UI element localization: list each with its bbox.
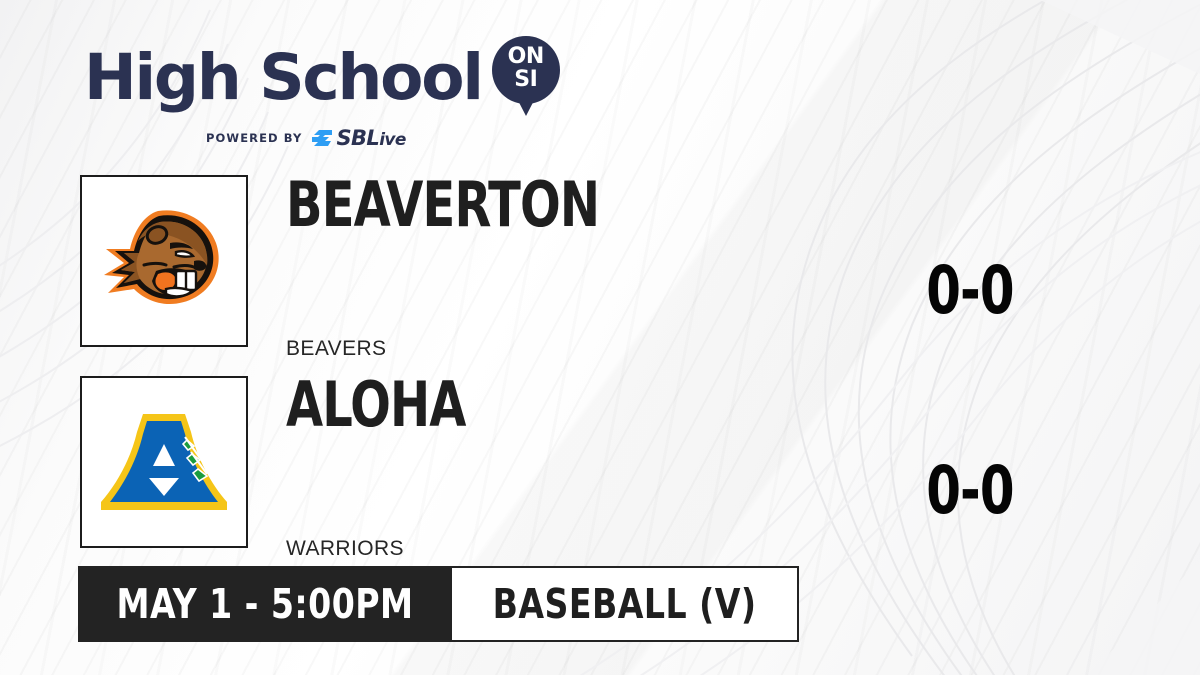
game-sport-segment: BASEBALL (V) bbox=[452, 566, 799, 642]
brand-header: High School ON SI POWERED BY SBLi bbox=[84, 36, 514, 150]
sblive-logo: SBLive bbox=[311, 126, 405, 150]
game-datetime-label: MAY 1 - 5:00PM bbox=[117, 584, 414, 625]
sblive-wordmark-main: SBL bbox=[336, 126, 379, 150]
team-record-beaverton: 0-0 bbox=[886, 258, 1054, 324]
pin-label-line2: SI bbox=[492, 68, 560, 91]
sblive-wordmark: SBLive bbox=[336, 126, 405, 150]
team-mascot-warriors: WARRIORS bbox=[286, 537, 404, 561]
team-mascot-beavers: BEAVERS bbox=[286, 337, 386, 361]
team-name-aloha: ALOHA bbox=[286, 374, 466, 436]
onsi-pin-icon: ON SI bbox=[492, 36, 560, 120]
powered-by-label: POWERED BY bbox=[206, 131, 302, 145]
powered-by-row: POWERED BY SBLive bbox=[84, 126, 514, 150]
letter-a-icon bbox=[99, 410, 229, 514]
sblive-bolt-icon bbox=[311, 129, 333, 148]
brand-title-row: High School ON SI bbox=[84, 36, 514, 120]
team-name-beaverton: BEAVERTON bbox=[286, 174, 599, 236]
game-sport-label: BASEBALL (V) bbox=[493, 584, 757, 625]
team-logo-box-beaverton bbox=[80, 175, 248, 347]
team-logo-box-aloha bbox=[80, 376, 248, 548]
matchup-graphic: High School ON SI POWERED BY SBLi bbox=[0, 0, 1200, 675]
sblive-wordmark-suffix: ive bbox=[379, 130, 406, 150]
beaver-head-icon bbox=[100, 205, 228, 317]
team-record-aloha: 0-0 bbox=[886, 458, 1054, 524]
page-title: High School bbox=[84, 48, 482, 108]
game-info-bar: MAY 1 - 5:00PM BASEBALL (V) bbox=[78, 566, 799, 642]
game-datetime-segment: MAY 1 - 5:00PM bbox=[78, 566, 452, 642]
pin-label: ON SI bbox=[492, 45, 560, 91]
pin-label-line1: ON bbox=[492, 45, 560, 68]
